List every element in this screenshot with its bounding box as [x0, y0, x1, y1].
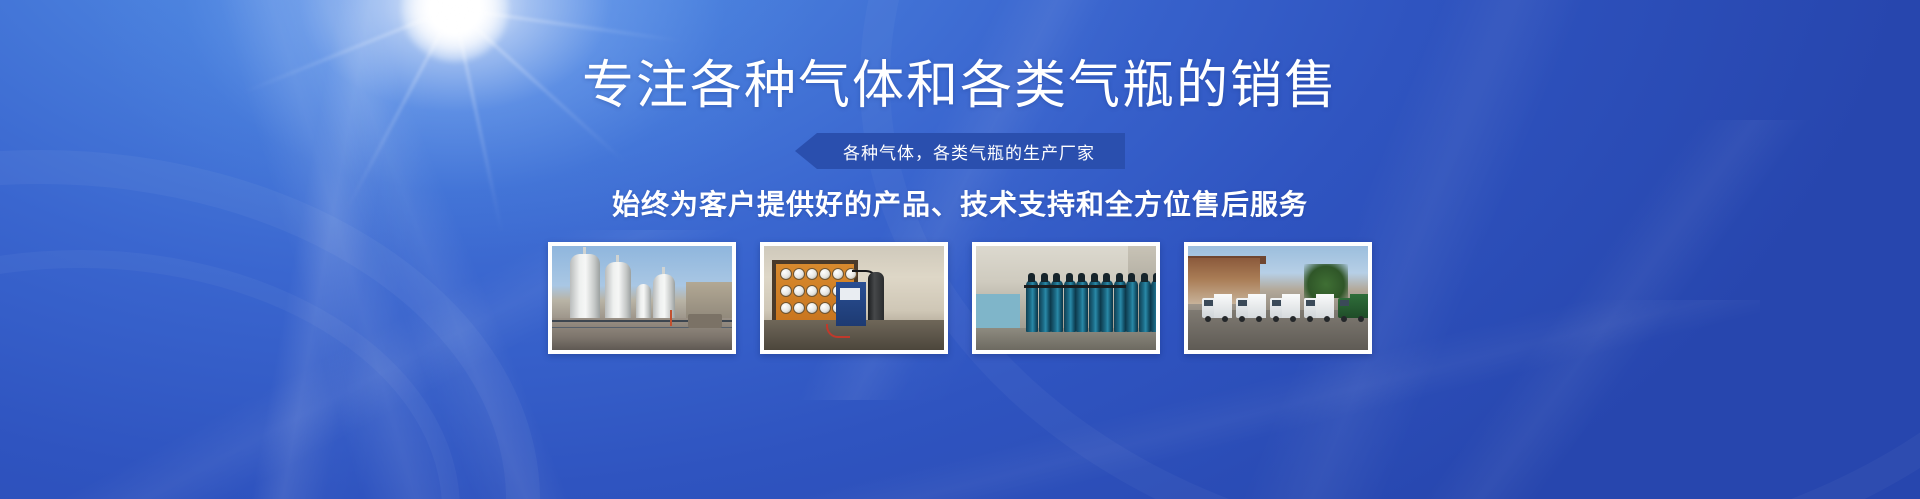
- pressure-gauge-icon: [780, 268, 792, 280]
- cylinder-valve-cap: [1053, 273, 1060, 282]
- photo-scene: [552, 246, 732, 350]
- photo-cryogenic-storage-tanks[interactable]: [548, 242, 736, 354]
- pressure-gauge-icon: [780, 302, 792, 314]
- cylinder-valve-cap: [1116, 273, 1123, 282]
- cylinder-valve-cap: [1028, 273, 1035, 282]
- photo-scene: [976, 246, 1156, 350]
- cylinder-valve-cap: [1041, 273, 1048, 282]
- delivery-truck: [1236, 288, 1266, 318]
- pressure-gauge-icon: [806, 268, 818, 280]
- gas-cylinder: [1126, 280, 1138, 332]
- pressure-gauge-icon: [793, 268, 805, 280]
- hero-banner: 专注各种气体和各类气瓶的销售 各种气体，各类气瓶的生产厂家 始终为客户提供好的产…: [0, 0, 1920, 499]
- pressure-gauge-icon: [806, 302, 818, 314]
- cylinder-valve-cap: [1103, 273, 1110, 282]
- photo-gas-filling-gauge-panel[interactable]: [760, 242, 948, 354]
- photo-scene: [764, 246, 944, 350]
- photo-gallery: [0, 242, 1920, 354]
- gas-cylinder: [1151, 280, 1160, 332]
- cylinder-valve-cap: [1091, 273, 1098, 282]
- delivery-truck: [1304, 288, 1334, 318]
- photo-gas-cylinder-rack[interactable]: [972, 242, 1160, 354]
- ribbon-container: 各种气体，各类气瓶的生产厂家: [0, 133, 1920, 169]
- ribbon-tagline: 各种气体，各类气瓶的生产厂家: [795, 133, 1125, 169]
- cylinder-valve-cap: [1128, 273, 1135, 282]
- photo-scene: [1188, 246, 1368, 350]
- banner-headline: 专注各种气体和各类气瓶的销售: [0, 56, 1920, 116]
- pressure-gauge-icon: [806, 285, 818, 297]
- banner-subline: 始终为客户提供好的产品、技术支持和全方位售后服务: [0, 188, 1920, 222]
- photo-delivery-truck-fleet[interactable]: [1184, 242, 1372, 354]
- pressure-gauge-icon: [793, 285, 805, 297]
- delivery-truck: [1270, 288, 1300, 318]
- pressure-gauge-icon: [819, 268, 831, 280]
- pressure-gauge-icon: [832, 268, 844, 280]
- cylinder-valve-cap: [1078, 273, 1085, 282]
- pressure-gauge-icon: [819, 302, 831, 314]
- delivery-truck: [1202, 288, 1232, 318]
- pressure-gauge-icon: [793, 302, 805, 314]
- gas-cylinder: [1139, 280, 1151, 332]
- pressure-gauge-icon: [780, 285, 792, 297]
- cylinder-valve-cap: [1066, 273, 1073, 282]
- cylinder-valve-cap: [1153, 273, 1160, 282]
- cylinder-valve-cap: [1141, 273, 1148, 282]
- pressure-gauge-icon: [819, 285, 831, 297]
- delivery-truck: [1338, 288, 1368, 318]
